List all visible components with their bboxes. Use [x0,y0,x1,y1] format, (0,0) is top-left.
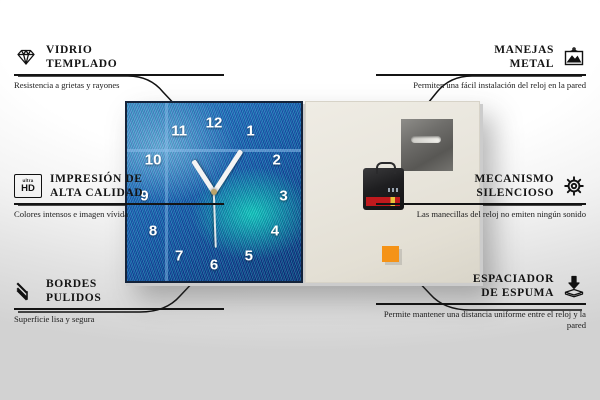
foam-spacer-icon [562,274,586,298]
ultra-hd-main-label: HD [21,184,35,194]
clock-numeral: 8 [149,223,157,240]
callout-title: ALTA CALIDAD [50,186,143,200]
callout-mecanismo-silencioso: MECANISMO SILENCIOSO Las manecillas del … [376,172,586,220]
callout-title: VIDRIO [46,43,117,57]
callout-title: MECANISMO [474,172,554,186]
callout-desc: Las manecillas del reloj no emiten ningú… [376,209,586,221]
divider [376,74,586,76]
callout-bordes-pulidos: BORDES PULIDOS Superficie lisa y segura [14,277,224,325]
metal-hanger [401,119,453,171]
clock-numeral: 6 [210,256,218,273]
callout-desc: Permiten una fácil instalación del reloj… [376,80,586,92]
foam-spacer [382,246,399,262]
callout-title: TEMPLADO [46,57,117,71]
clock-numeral: 10 [145,151,162,168]
clock-numeral: 5 [245,248,253,265]
diamond-icon [14,45,38,69]
clock-numeral: 7 [175,248,183,265]
picture-frame-icon [562,45,586,69]
infographic-stage: 12 1 2 3 4 5 6 7 8 9 10 11 [0,0,600,400]
clock-numeral: 3 [279,187,287,204]
callout-title: PULIDOS [46,291,101,305]
polished-edges-icon [14,279,38,303]
divider [376,303,586,305]
divider [14,74,224,76]
callout-title: MANEJAS [494,43,554,57]
divider [376,203,586,205]
callout-vidrio-templado: VIDRIO TEMPLADO Resistencia a grietas y … [14,43,224,91]
clock-numeral: 12 [206,114,223,131]
gear-icon [562,174,586,198]
callout-desc: Resistencia a grietas y rayones [14,80,224,92]
callout-title: DE ESPUMA [473,286,554,300]
callout-impresion-alta-calidad: ultra HD IMPRESIÓN DE ALTA CALIDAD Color… [14,172,224,220]
callout-manejas-metal: MANEJAS METAL Permiten una fácil instala… [376,43,586,91]
callout-title: BORDES [46,277,101,291]
hanger-slot [411,136,441,143]
clock-numeral: 4 [271,223,279,240]
clock-numeral: 11 [171,123,187,140]
callout-title: ESPACIADOR [473,272,554,286]
callout-desc: Permite mantener una distancia uniforme … [376,309,586,332]
callout-title: METAL [494,57,554,71]
clock-numeral: 2 [272,151,280,168]
callout-title: SILENCIOSO [474,186,554,200]
callout-espaciador-espuma: ESPACIADOR DE ESPUMA Permite mantener un… [376,272,586,332]
clock-numeral: 1 [246,123,254,140]
divider [14,308,224,310]
ultra-hd-icon: ultra HD [14,174,42,198]
callout-title: IMPRESIÓN DE [50,172,143,186]
callout-desc: Colores intensos e imagen vívida [14,209,224,221]
callout-desc: Superficie lisa y segura [14,314,224,326]
divider [14,203,224,205]
